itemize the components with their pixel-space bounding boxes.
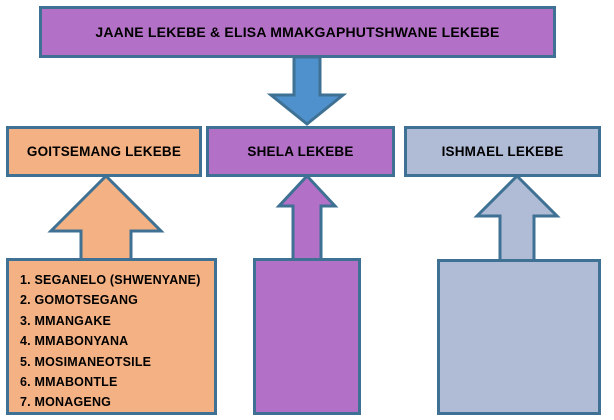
- list-item: 2. GOMOTSEGANG: [20, 290, 214, 310]
- list-item: 3. MMANGAKE: [20, 311, 214, 331]
- child-label-shela: SHELA LEKEBE: [247, 144, 353, 160]
- arrow-up-icon-shela: [276, 175, 338, 265]
- family-tree-diagram: JAANE LEKEBE & ELISA MMAKGAPHUTSHWANE LE…: [0, 0, 614, 420]
- list-item: 1. SEGANELO (SHWENYANE): [20, 270, 214, 290]
- root-couple-label: JAANE LEKEBE & ELISA MMAKGAPHUTSHWANE LE…: [95, 24, 499, 40]
- descendants-list-goitsemang: 1. SEGANELO (SHWENYANE) 2. GOMOTSEGANG 3…: [6, 258, 217, 415]
- child-label-goitsemang: GOITSEMANG LEKEBE: [27, 144, 181, 160]
- list-item: 7. MONAGENG: [20, 392, 214, 412]
- descendants-panel-shela: [253, 258, 361, 415]
- arrow-up-icon-goitsemang: [47, 175, 165, 265]
- arrow-down-icon: [265, 57, 349, 126]
- arrow-up-icon-ishmael: [473, 175, 561, 265]
- child-box-shela[interactable]: SHELA LEKEBE: [206, 126, 395, 177]
- list-item: 6. MMABONTLE: [20, 372, 214, 392]
- list-item: 4. MMABONYANA: [20, 331, 214, 351]
- list-item: 5. MOSIMANEOTSILE: [20, 352, 214, 372]
- child-label-ishmael: ISHMAEL LEKEBE: [442, 144, 564, 160]
- descendants-panel-ishmael: [437, 259, 601, 415]
- root-couple-box[interactable]: JAANE LEKEBE & ELISA MMAKGAPHUTSHWANE LE…: [39, 6, 556, 58]
- child-box-ishmael[interactable]: ISHMAEL LEKEBE: [404, 126, 601, 177]
- child-box-goitsemang[interactable]: GOITSEMANG LEKEBE: [6, 126, 202, 177]
